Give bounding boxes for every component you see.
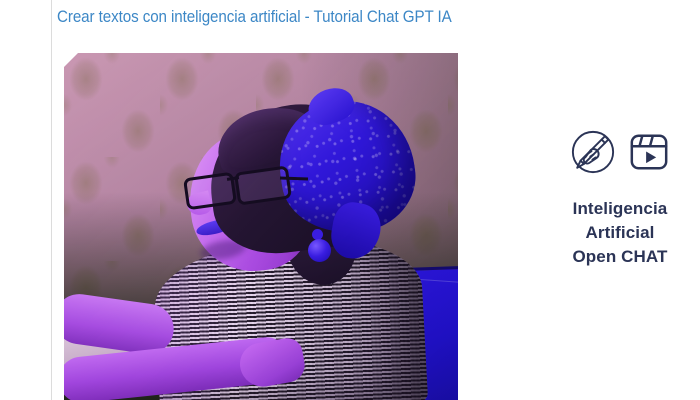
round-earring xyxy=(308,239,331,262)
page-root: Crear textos con inteligencia artificial… xyxy=(0,0,700,400)
promo-line-3: Open CHAT xyxy=(500,245,700,269)
content-divider-rule xyxy=(51,0,52,400)
promo-line-1: Inteligencia xyxy=(500,197,700,221)
promo-line-2: Artificial xyxy=(500,221,700,245)
promo-panel: Inteligencia Artificial Open CHAT xyxy=(500,125,700,345)
hand-pencil-icon xyxy=(570,129,616,175)
promo-icon-row xyxy=(500,125,700,179)
promo-text-block: Inteligencia Artificial Open CHAT xyxy=(500,197,700,269)
video-play-icon xyxy=(628,131,670,173)
photo-canvas xyxy=(64,53,458,400)
media-card: Inteligencia Artificial Open CHAT xyxy=(64,53,644,400)
featured-image[interactable] xyxy=(64,53,458,400)
post-title-link[interactable]: Crear textos con inteligencia artificial… xyxy=(57,4,572,30)
photo-subject xyxy=(64,53,458,400)
